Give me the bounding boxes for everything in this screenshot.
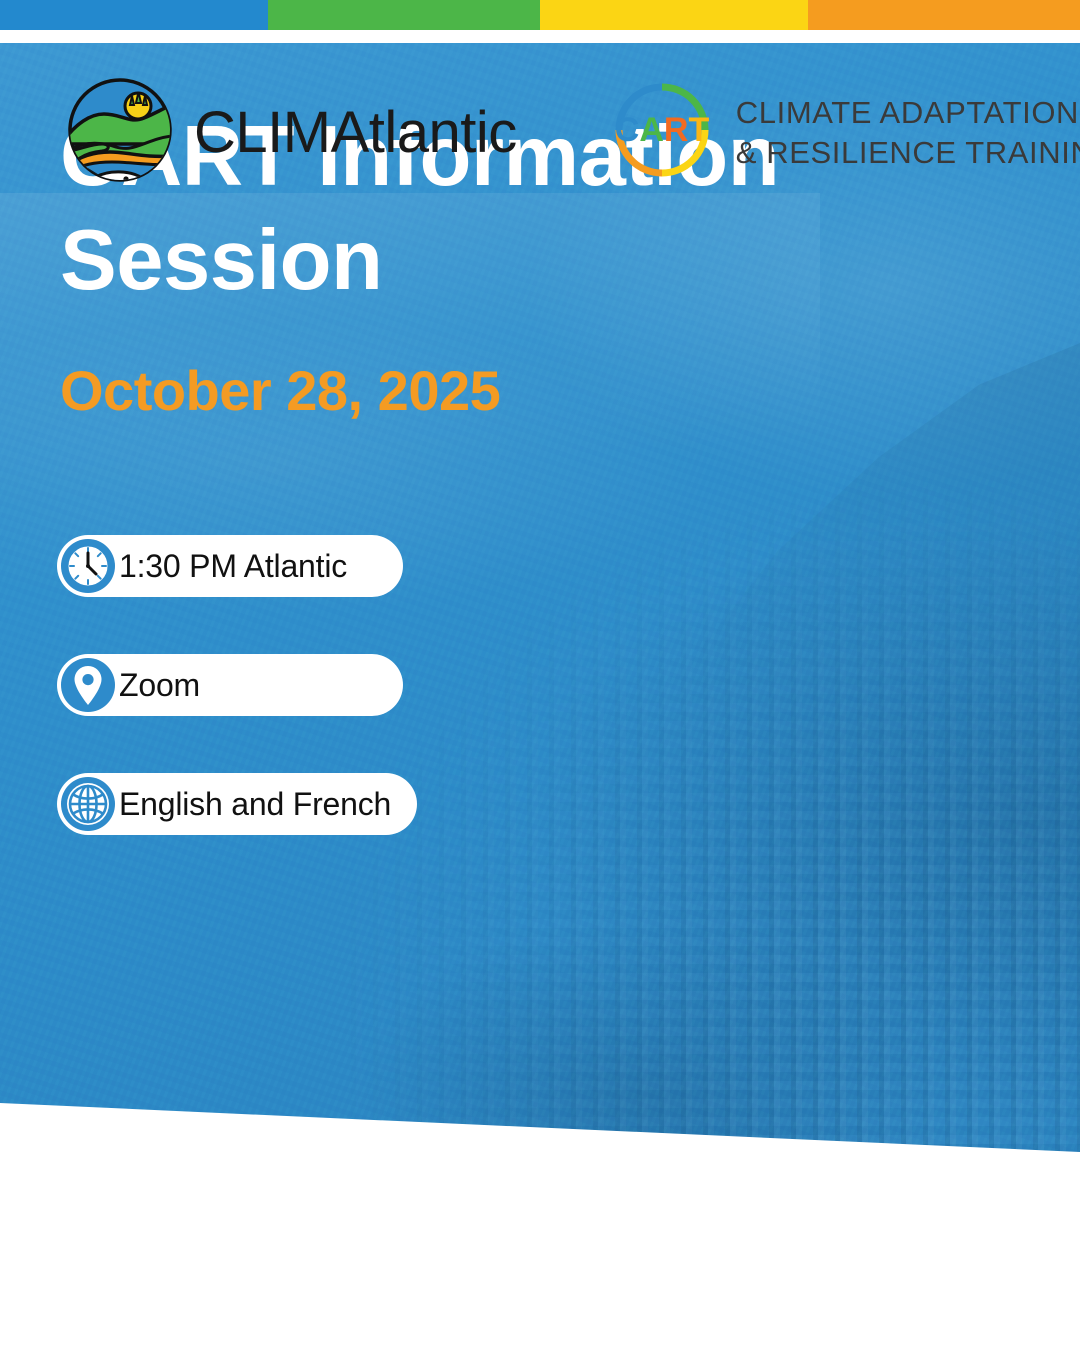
forest-texture xyxy=(340,393,1080,1153)
event-date: October 28, 2025 xyxy=(60,312,880,423)
detail-pill-language: English and French xyxy=(57,773,417,835)
svg-text:CART: CART xyxy=(615,111,710,149)
location-pin-icon xyxy=(57,654,119,716)
color-segment-yellow xyxy=(540,0,808,30)
globe-icon xyxy=(57,773,119,835)
event-details-list: 1:30 PM Atlantic Zoom xyxy=(57,535,417,892)
footer-logos: CLIMAtlantic CART CLIMATE AD xyxy=(0,78,1080,187)
clock-icon xyxy=(57,535,119,597)
detail-pill-time: 1:30 PM Atlantic xyxy=(57,535,403,597)
climatlantic-logo-icon xyxy=(68,78,172,187)
color-segment-green xyxy=(268,0,540,30)
poster: CART Information Session October 28, 202… xyxy=(0,0,1080,1350)
cart-wordmark: CLIMATE ADAPTATION & RESILIENCE TRAINING xyxy=(736,93,1080,172)
hero-banner: CART Information Session October 28, 202… xyxy=(0,43,1080,1153)
detail-location-label: Zoom xyxy=(119,667,200,704)
detail-time-label: 1:30 PM Atlantic xyxy=(119,548,347,585)
climatlantic-wordmark: CLIMAtlantic xyxy=(194,99,517,166)
climatlantic-logo: CLIMAtlantic xyxy=(68,78,517,187)
cart-wordmark-line2: & RESILIENCE TRAINING xyxy=(736,133,1080,173)
cart-wordmark-line1: CLIMATE ADAPTATION xyxy=(736,93,1080,133)
detail-language-label: English and French xyxy=(119,786,391,823)
color-segment-orange xyxy=(808,0,1080,30)
detail-pill-location: Zoom xyxy=(57,654,403,716)
color-segment-blue xyxy=(0,0,268,30)
top-color-bar xyxy=(0,0,1080,30)
cart-logo-icon: CART xyxy=(610,78,714,187)
cart-logo: CART CLIMATE ADAPTATION & RESILIENCE TRA… xyxy=(610,78,1080,187)
